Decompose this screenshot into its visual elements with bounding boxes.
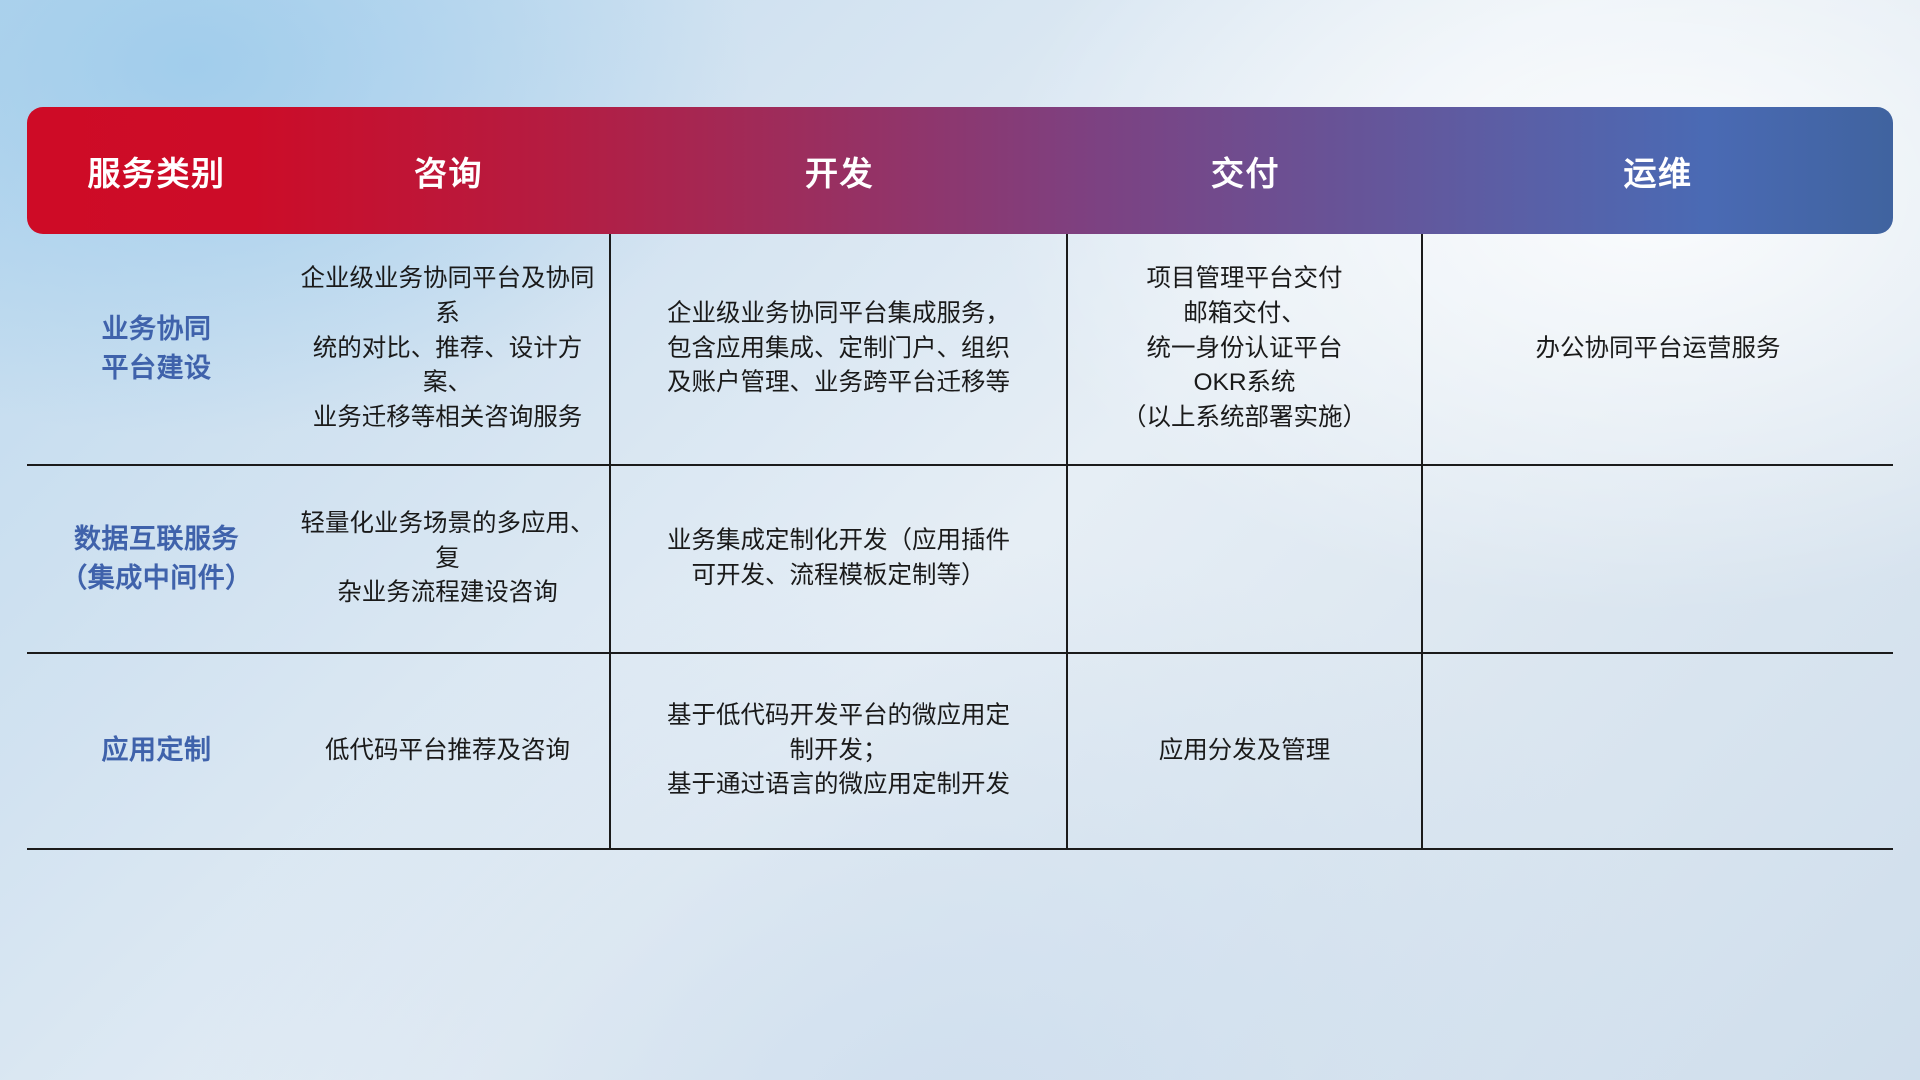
cell-text-consulting: 轻量化业务场景的多应用、复 杂业务流程建设咨询 <box>301 510 595 607</box>
header-label-operations: 运维 <box>1423 147 1893 195</box>
cell-operations: 办公协同平台运营服务 <box>1423 234 1893 466</box>
cell-text-development: 企业级业务协同平台集成服务， 包含应用集成、定制门户、组织 及账户管理、业务跨平… <box>667 300 1010 397</box>
cell-text-development: 业务集成定制化开发（应用插件 可开发、流程模板定制等） <box>667 527 1010 589</box>
cell-delivery <box>1068 466 1423 654</box>
cell-consulting: 轻量化业务场景的多应用、复 杂业务流程建设咨询 <box>286 466 611 654</box>
cell-development: 基于低代码开发平台的微应用定 制开发； 基于通过语言的微应用定制开发 <box>611 654 1068 850</box>
header-label-service-category: 服务类别 <box>27 147 286 195</box>
table-row: 业务协同 平台建设 企业级业务协同平台及协同系 统的对比、推荐、设计方案、 业务… <box>27 234 1893 466</box>
cell-text-operations: 办公协同平台运营服务 <box>1536 335 1781 362</box>
header-label-consulting: 咨询 <box>286 147 611 195</box>
table-row: 应用定制 低代码平台推荐及咨询 基于低代码开发平台的微应用定 制开发； 基于通过… <box>27 654 1893 850</box>
cell-development: 企业级业务协同平台集成服务， 包含应用集成、定制门户、组织 及账户管理、业务跨平… <box>611 234 1068 466</box>
service-matrix-table: 服务类别 咨询 开发 交付 运维 业务协同 平台建设 <box>27 107 1893 957</box>
header-row: 服务类别 咨询 开发 交付 运维 <box>27 107 1893 234</box>
table-row: 数据互联服务 （集成中间件） 轻量化业务场景的多应用、复 杂业务流程建设咨询 业… <box>27 466 1893 654</box>
cell-operations <box>1423 466 1893 654</box>
cell-text-delivery: 项目管理平台交付 邮箱交付、 统一身份认证平台 OKR系统 （以上系统部署实施） <box>1122 265 1367 431</box>
cell-consulting: 低代码平台推荐及咨询 <box>286 654 611 850</box>
header-cell-delivery: 交付 <box>1068 107 1423 234</box>
cell-text-development: 基于低代码开发平台的微应用定 制开发； 基于通过语言的微应用定制开发 <box>667 702 1010 799</box>
cell-operations <box>1423 654 1893 850</box>
header-cell-development: 开发 <box>611 107 1068 234</box>
table-header: 服务类别 咨询 开发 交付 运维 <box>27 107 1893 234</box>
header-cell-operations: 运维 <box>1423 107 1893 234</box>
row-category-label: 应用定制 <box>27 654 286 850</box>
cell-text-consulting: 企业级业务协同平台及协同系 统的对比、推荐、设计方案、 业务迁移等相关咨询服务 <box>301 265 595 431</box>
cell-delivery: 项目管理平台交付 邮箱交付、 统一身份认证平台 OKR系统 （以上系统部署实施） <box>1068 234 1423 466</box>
header-label-development: 开发 <box>611 147 1068 195</box>
header-label-delivery: 交付 <box>1068 147 1423 195</box>
cell-text-consulting: 低代码平台推荐及咨询 <box>325 737 570 764</box>
category-text: 数据互联服务 （集成中间件） <box>60 524 253 593</box>
cell-consulting: 企业级业务协同平台及协同系 统的对比、推荐、设计方案、 业务迁移等相关咨询服务 <box>286 234 611 466</box>
cell-delivery: 应用分发及管理 <box>1068 654 1423 850</box>
row-category-label: 数据互联服务 （集成中间件） <box>27 466 286 654</box>
header-cell-service-category: 服务类别 <box>27 107 286 234</box>
cell-text-delivery: 应用分发及管理 <box>1159 737 1331 764</box>
category-text: 业务协同 平台建设 <box>102 314 212 383</box>
category-text: 应用定制 <box>102 735 212 765</box>
cell-development: 业务集成定制化开发（应用插件 可开发、流程模板定制等） <box>611 466 1068 654</box>
row-category-label: 业务协同 平台建设 <box>27 234 286 466</box>
header-cell-consulting: 咨询 <box>286 107 611 234</box>
table-body: 业务协同 平台建设 企业级业务协同平台及协同系 统的对比、推荐、设计方案、 业务… <box>27 234 1893 850</box>
service-table: 服务类别 咨询 开发 交付 运维 业务协同 平台建设 <box>27 107 1893 850</box>
